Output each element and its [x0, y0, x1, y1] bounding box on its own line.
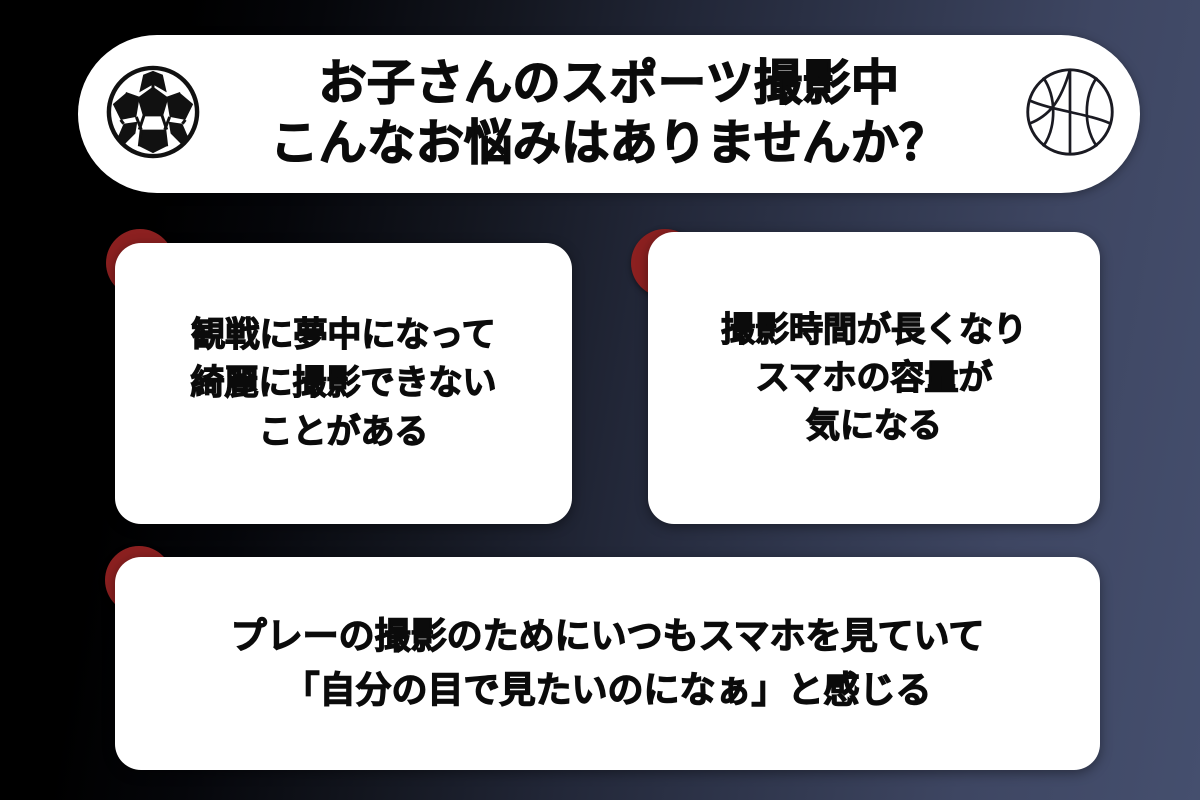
concern-card-2: 撮影時間が長くなり スマホの容量が 気になる [648, 232, 1100, 524]
concern-card-3-text: プレーの撮影のためにいつもスマホを見ていて 「自分の目で見たいのになぁ」と感じる [207, 610, 1009, 718]
infographic-canvas: お子さんのスポーツ撮影中 こんなお悩みはありませんか？ 観戦に夢中になって 綺麗… [0, 0, 1200, 800]
page-title: お子さんのスポーツ撮影中 こんなお悩みはありませんか？ [150, 54, 1068, 173]
header-panel: お子さんのスポーツ撮影中 こんなお悩みはありませんか？ [78, 35, 1140, 193]
concern-card-1-text: 観戦に夢中になって 綺麗に撮影できない ことがある [173, 311, 515, 456]
concern-card-1: 観戦に夢中になって 綺麗に撮影できない ことがある [115, 243, 572, 524]
concern-card-3: プレーの撮影のためにいつもスマホを見ていて 「自分の目で見たいのになぁ」と感じる [115, 557, 1100, 770]
concern-card-2-text: 撮影時間が長くなり スマホの容量が 気になる [703, 306, 1045, 451]
soccer-ball-icon [104, 63, 202, 165]
basketball-icon [1022, 64, 1118, 164]
